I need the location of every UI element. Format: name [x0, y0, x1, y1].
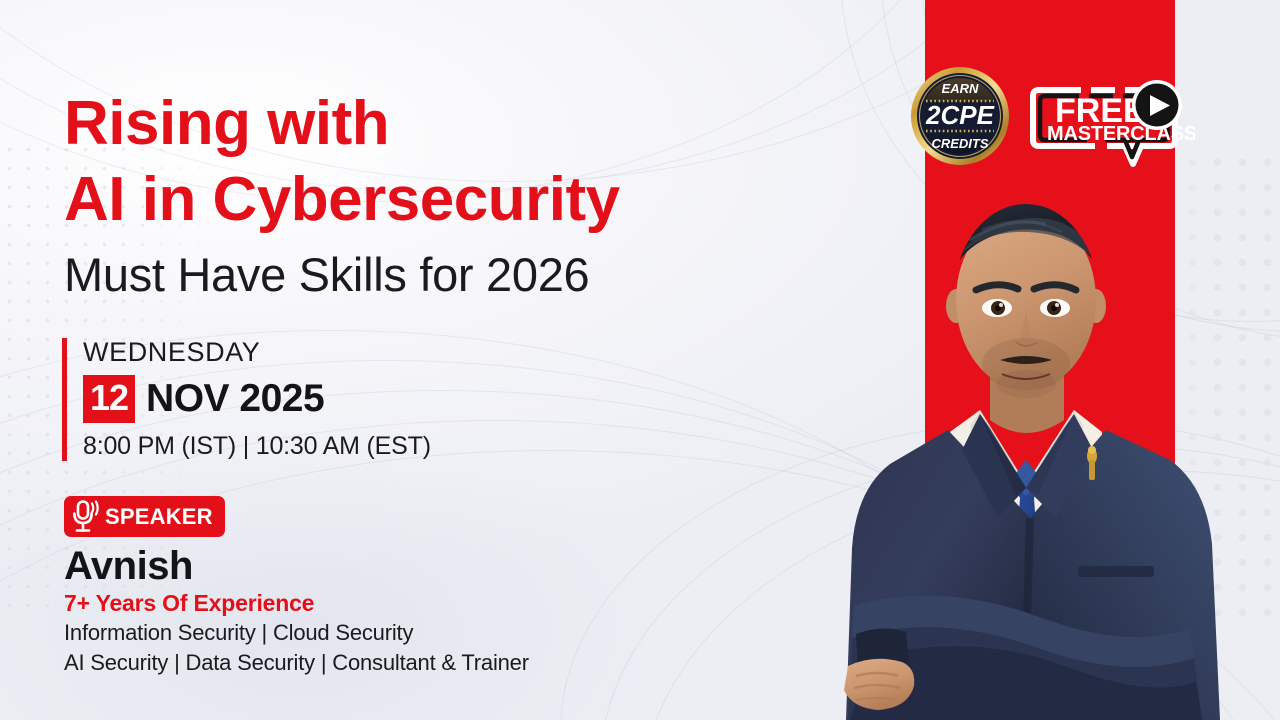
speaker-expertise-line-2: AI Security | Data Security | Consultant…	[64, 650, 529, 677]
cpe-credits-badge: EARN 2CPE CREDITS	[910, 66, 1010, 166]
speaker-portrait	[830, 188, 1230, 720]
speaker-expertise-line-1: Information Security | Cloud Security	[64, 620, 529, 647]
speaker-block: SPEAKER Avnish 7+ Years Of Experience In…	[64, 496, 529, 677]
speaker-name: Avnish	[64, 544, 529, 589]
event-weekday: WEDNESDAY	[83, 338, 431, 368]
masterclass-line-2: MASTERCLASS	[1047, 123, 1195, 145]
event-time: 8:00 PM (IST) | 10:30 AM (EST)	[83, 432, 431, 461]
headline-group: Rising with AI in Cybersecurity Must Hav…	[64, 86, 764, 307]
microphone-icon	[71, 499, 101, 533]
event-date-row: 12 NOV 2025	[83, 375, 431, 423]
play-button-icon	[1132, 80, 1182, 130]
speaker-badge: SPEAKER	[64, 496, 225, 537]
headline-subtitle: Must Have Skills for 2026	[64, 243, 764, 306]
headline-line-1: Rising with	[64, 86, 764, 162]
speaker-experience: 7+ Years Of Experience	[64, 590, 529, 618]
cpe-center-text: 2CPE	[925, 100, 995, 130]
webinar-promo-banner: Rising with AI in Cybersecurity Must Hav…	[0, 0, 1280, 720]
speaker-badge-label: SPEAKER	[105, 506, 213, 528]
event-date-block: WEDNESDAY 12 NOV 2025 8:00 PM (IST) | 10…	[62, 338, 431, 461]
event-day-number: 12	[83, 375, 135, 423]
event-month-year: NOV 2025	[146, 379, 324, 418]
headline-line-2: AI in Cybersecurity	[64, 162, 764, 238]
cpe-bottom-text: CREDITS	[931, 136, 988, 151]
free-masterclass-badge: FREE MASTERCLASS	[1029, 68, 1195, 168]
cpe-top-text: EARN	[942, 81, 979, 96]
